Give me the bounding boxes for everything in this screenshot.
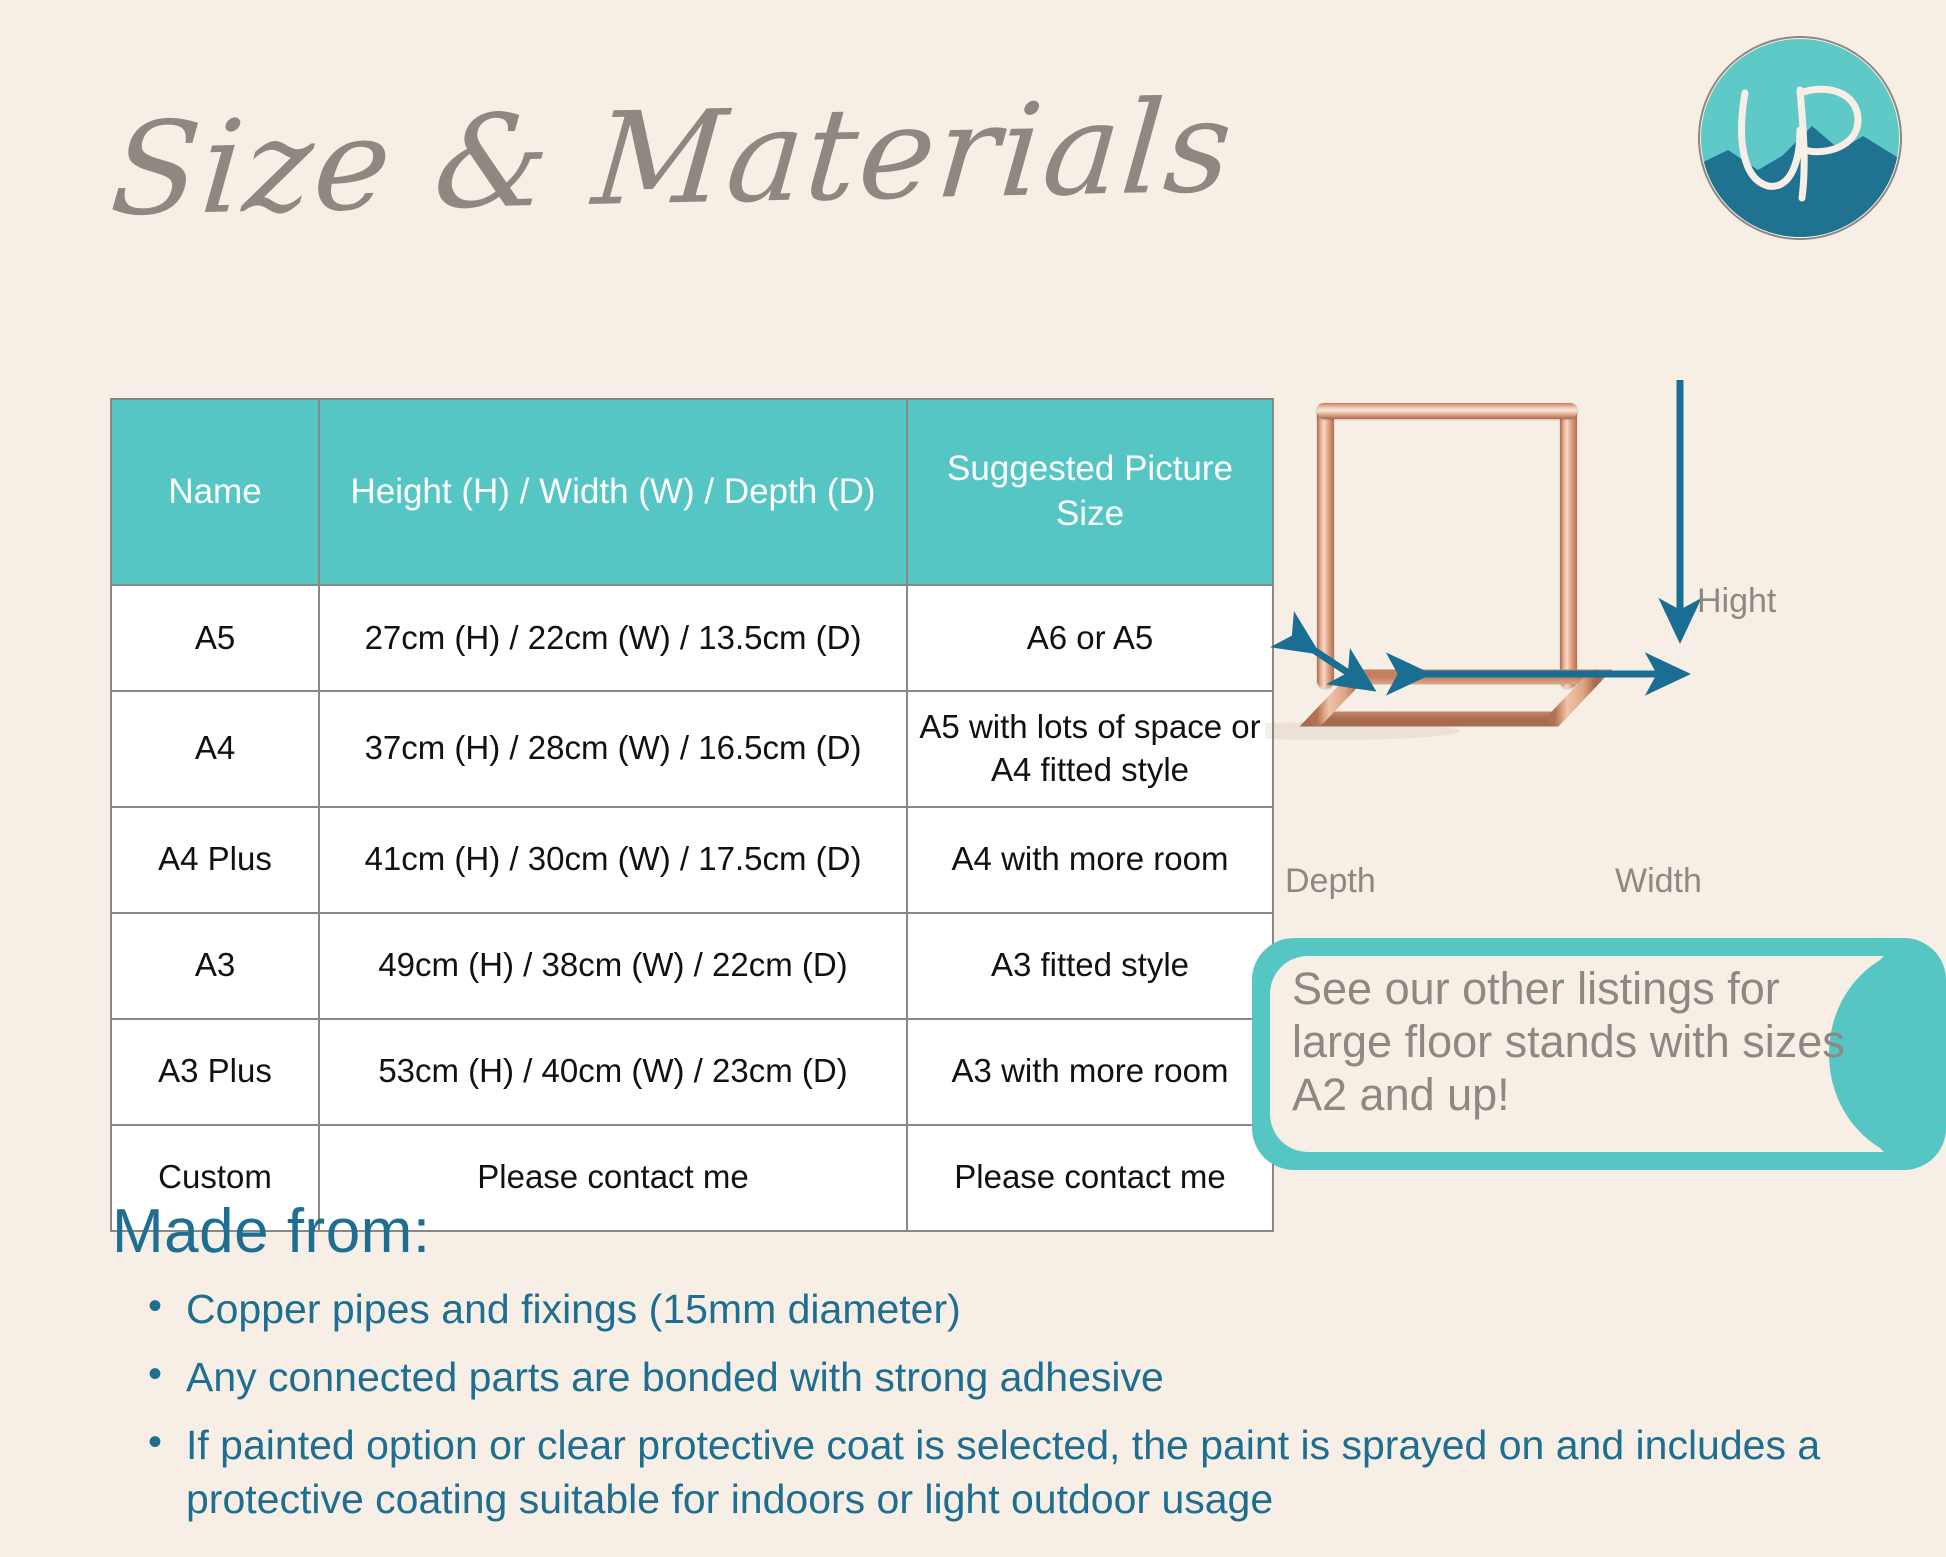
depth-label: Depth (1285, 862, 1376, 901)
up-logo-graphic (1700, 38, 1900, 238)
table-row: A3 49cm (H) / 38cm (W) / 22cm (D) A3 fit… (111, 913, 1273, 1019)
table-row: A4 37cm (H) / 28cm (W) / 16.5cm (D) A5 w… (111, 691, 1273, 807)
list-item: If painted option or clear protective co… (140, 1418, 1920, 1526)
cell-picture-size: A3 fitted style (907, 913, 1273, 1019)
cell-picture-size: Please contact me (907, 1125, 1273, 1231)
table-row: A4 Plus 41cm (H) / 30cm (W) / 17.5cm (D)… (111, 807, 1273, 913)
width-label: Width (1615, 862, 1702, 901)
height-label: Hight (1697, 582, 1776, 621)
column-header-name: Name (111, 399, 319, 585)
page-title: Size & Materials (106, 73, 1240, 245)
list-item: Any connected parts are bonded with stro… (140, 1350, 1920, 1404)
column-header-picture-size: Suggested Picture Size (907, 399, 1273, 585)
up-logo (1700, 38, 1900, 238)
cell-name: A4 (111, 691, 319, 807)
copper-stand-base (1265, 657, 1625, 752)
cell-dimensions: 37cm (H) / 28cm (W) / 16.5cm (D) (319, 691, 907, 807)
cell-name: A5 (111, 585, 319, 691)
list-item: Copper pipes and fixings (15mm diameter) (140, 1282, 1920, 1336)
cell-picture-size: A3 with more room (907, 1019, 1273, 1125)
table-header: Name Height (H) / Width (W) / Depth (D) … (111, 399, 1273, 585)
table-header-row: Name Height (H) / Width (W) / Depth (D) … (111, 399, 1273, 585)
cell-picture-size: A6 or A5 (907, 585, 1273, 691)
copper-pipe-top-rail (1317, 403, 1577, 419)
materials-list: Copper pipes and fixings (15mm diameter)… (140, 1282, 1920, 1540)
cell-picture-size: A4 with more room (907, 807, 1273, 913)
made-from-heading: Made from: (112, 1196, 431, 1267)
promo-banner-text: See our other listings for large floor s… (1292, 962, 1852, 1121)
copper-pipe-right-upright (1560, 403, 1577, 688)
table-row: A5 27cm (H) / 22cm (W) / 13.5cm (D) A6 o… (111, 585, 1273, 691)
copper-pipe-left-upright (1317, 403, 1334, 688)
size-table: Name Height (H) / Width (W) / Depth (D) … (110, 398, 1274, 1232)
table-body: A5 27cm (H) / 22cm (W) / 13.5cm (D) A6 o… (111, 585, 1273, 1231)
table-row: A3 Plus 53cm (H) / 40cm (W) / 23cm (D) A… (111, 1019, 1273, 1125)
copper-stand-photo (1255, 395, 1675, 755)
cell-name: A4 Plus (111, 807, 319, 913)
cell-dimensions: 27cm (H) / 22cm (W) / 13.5cm (D) (319, 585, 907, 691)
column-header-dimensions: Height (H) / Width (W) / Depth (D) (319, 399, 907, 585)
cell-name: A3 (111, 913, 319, 1019)
promo-banner[interactable]: See our other listings for large floor s… (1252, 938, 1946, 1170)
cell-dimensions: 53cm (H) / 40cm (W) / 23cm (D) (319, 1019, 907, 1125)
cell-picture-size: A5 with lots of space or A4 fitted style (907, 691, 1273, 807)
cell-dimensions: 49cm (H) / 38cm (W) / 22cm (D) (319, 913, 907, 1019)
cell-name: A3 Plus (111, 1019, 319, 1125)
cell-dimensions: 41cm (H) / 30cm (W) / 17.5cm (D) (319, 807, 907, 913)
